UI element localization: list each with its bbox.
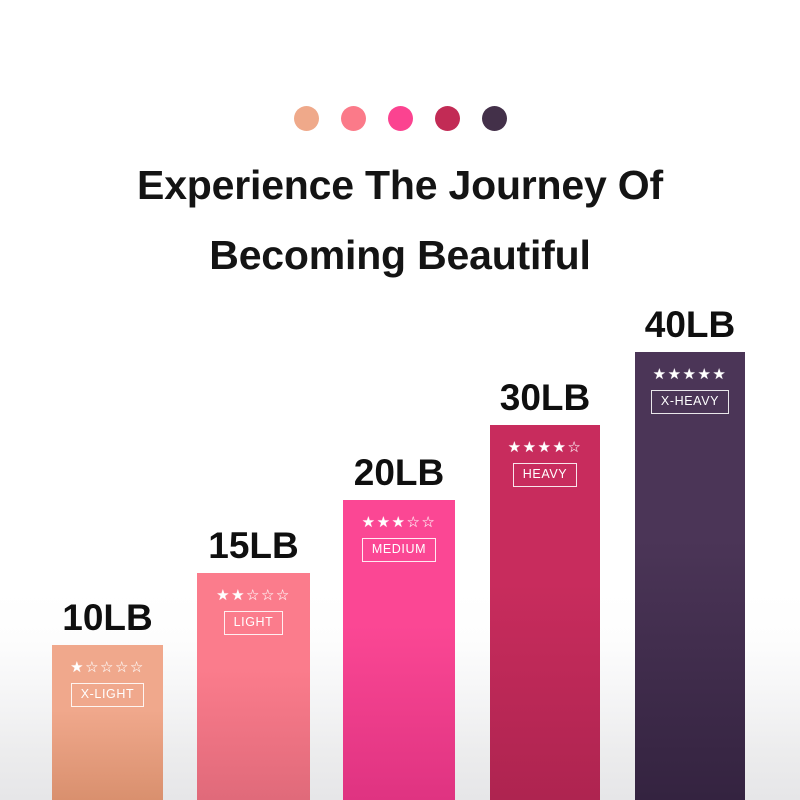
bar-badge-stack: ★★★☆☆MEDIUM [343, 500, 455, 562]
tier-badge: X-HEAVY [651, 390, 729, 414]
bar-weight-label: 40LB [645, 305, 735, 345]
bar-badge-stack: ★★★★★X-HEAVY [635, 352, 745, 414]
bar-badge-stack: ★★☆☆☆LIGHT [197, 573, 310, 635]
bar: ★★★☆☆MEDIUM [343, 500, 455, 800]
rating-stars: ★★★★★ [653, 366, 728, 383]
tier-badge: MEDIUM [362, 538, 436, 562]
bar: ★★★★☆HEAVY [490, 425, 600, 800]
rating-stars: ★★☆☆☆ [216, 587, 291, 604]
bar-group[interactable]: 30LB★★★★☆HEAVY [490, 425, 600, 800]
tier-badge: HEAVY [513, 463, 577, 487]
rating-stars: ★★★★☆ [508, 439, 583, 456]
bar: ★★☆☆☆LIGHT [197, 573, 310, 800]
bar: ★☆☆☆☆X-LIGHT [52, 645, 163, 800]
bar-group[interactable]: 15LB★★☆☆☆LIGHT [197, 573, 310, 800]
bar-group[interactable]: 40LB★★★★★X-HEAVY [635, 352, 745, 800]
bar-group[interactable]: 20LB★★★☆☆MEDIUM [343, 500, 455, 800]
tier-badge: X-LIGHT [71, 683, 145, 707]
bar-weight-label: 30LB [500, 378, 590, 418]
bar-badge-stack: ★★★★☆HEAVY [490, 425, 600, 487]
bar-weight-label: 20LB [354, 453, 444, 493]
bar-weight-label: 10LB [62, 598, 152, 638]
promo-graphic: Experience The Journey Of Becoming Beaut… [0, 0, 800, 800]
bar-group[interactable]: 10LB★☆☆☆☆X-LIGHT [52, 645, 163, 800]
resistance-band-bar-chart: 10LB★☆☆☆☆X-LIGHT15LB★★☆☆☆LIGHT20LB★★★☆☆M… [0, 0, 800, 800]
bar-badge-stack: ★☆☆☆☆X-LIGHT [52, 645, 163, 707]
rating-stars: ★★★☆☆ [362, 514, 437, 531]
tier-badge: LIGHT [224, 611, 284, 635]
bar: ★★★★★X-HEAVY [635, 352, 745, 800]
bar-weight-label: 15LB [208, 526, 298, 566]
rating-stars: ★☆☆☆☆ [70, 659, 145, 676]
